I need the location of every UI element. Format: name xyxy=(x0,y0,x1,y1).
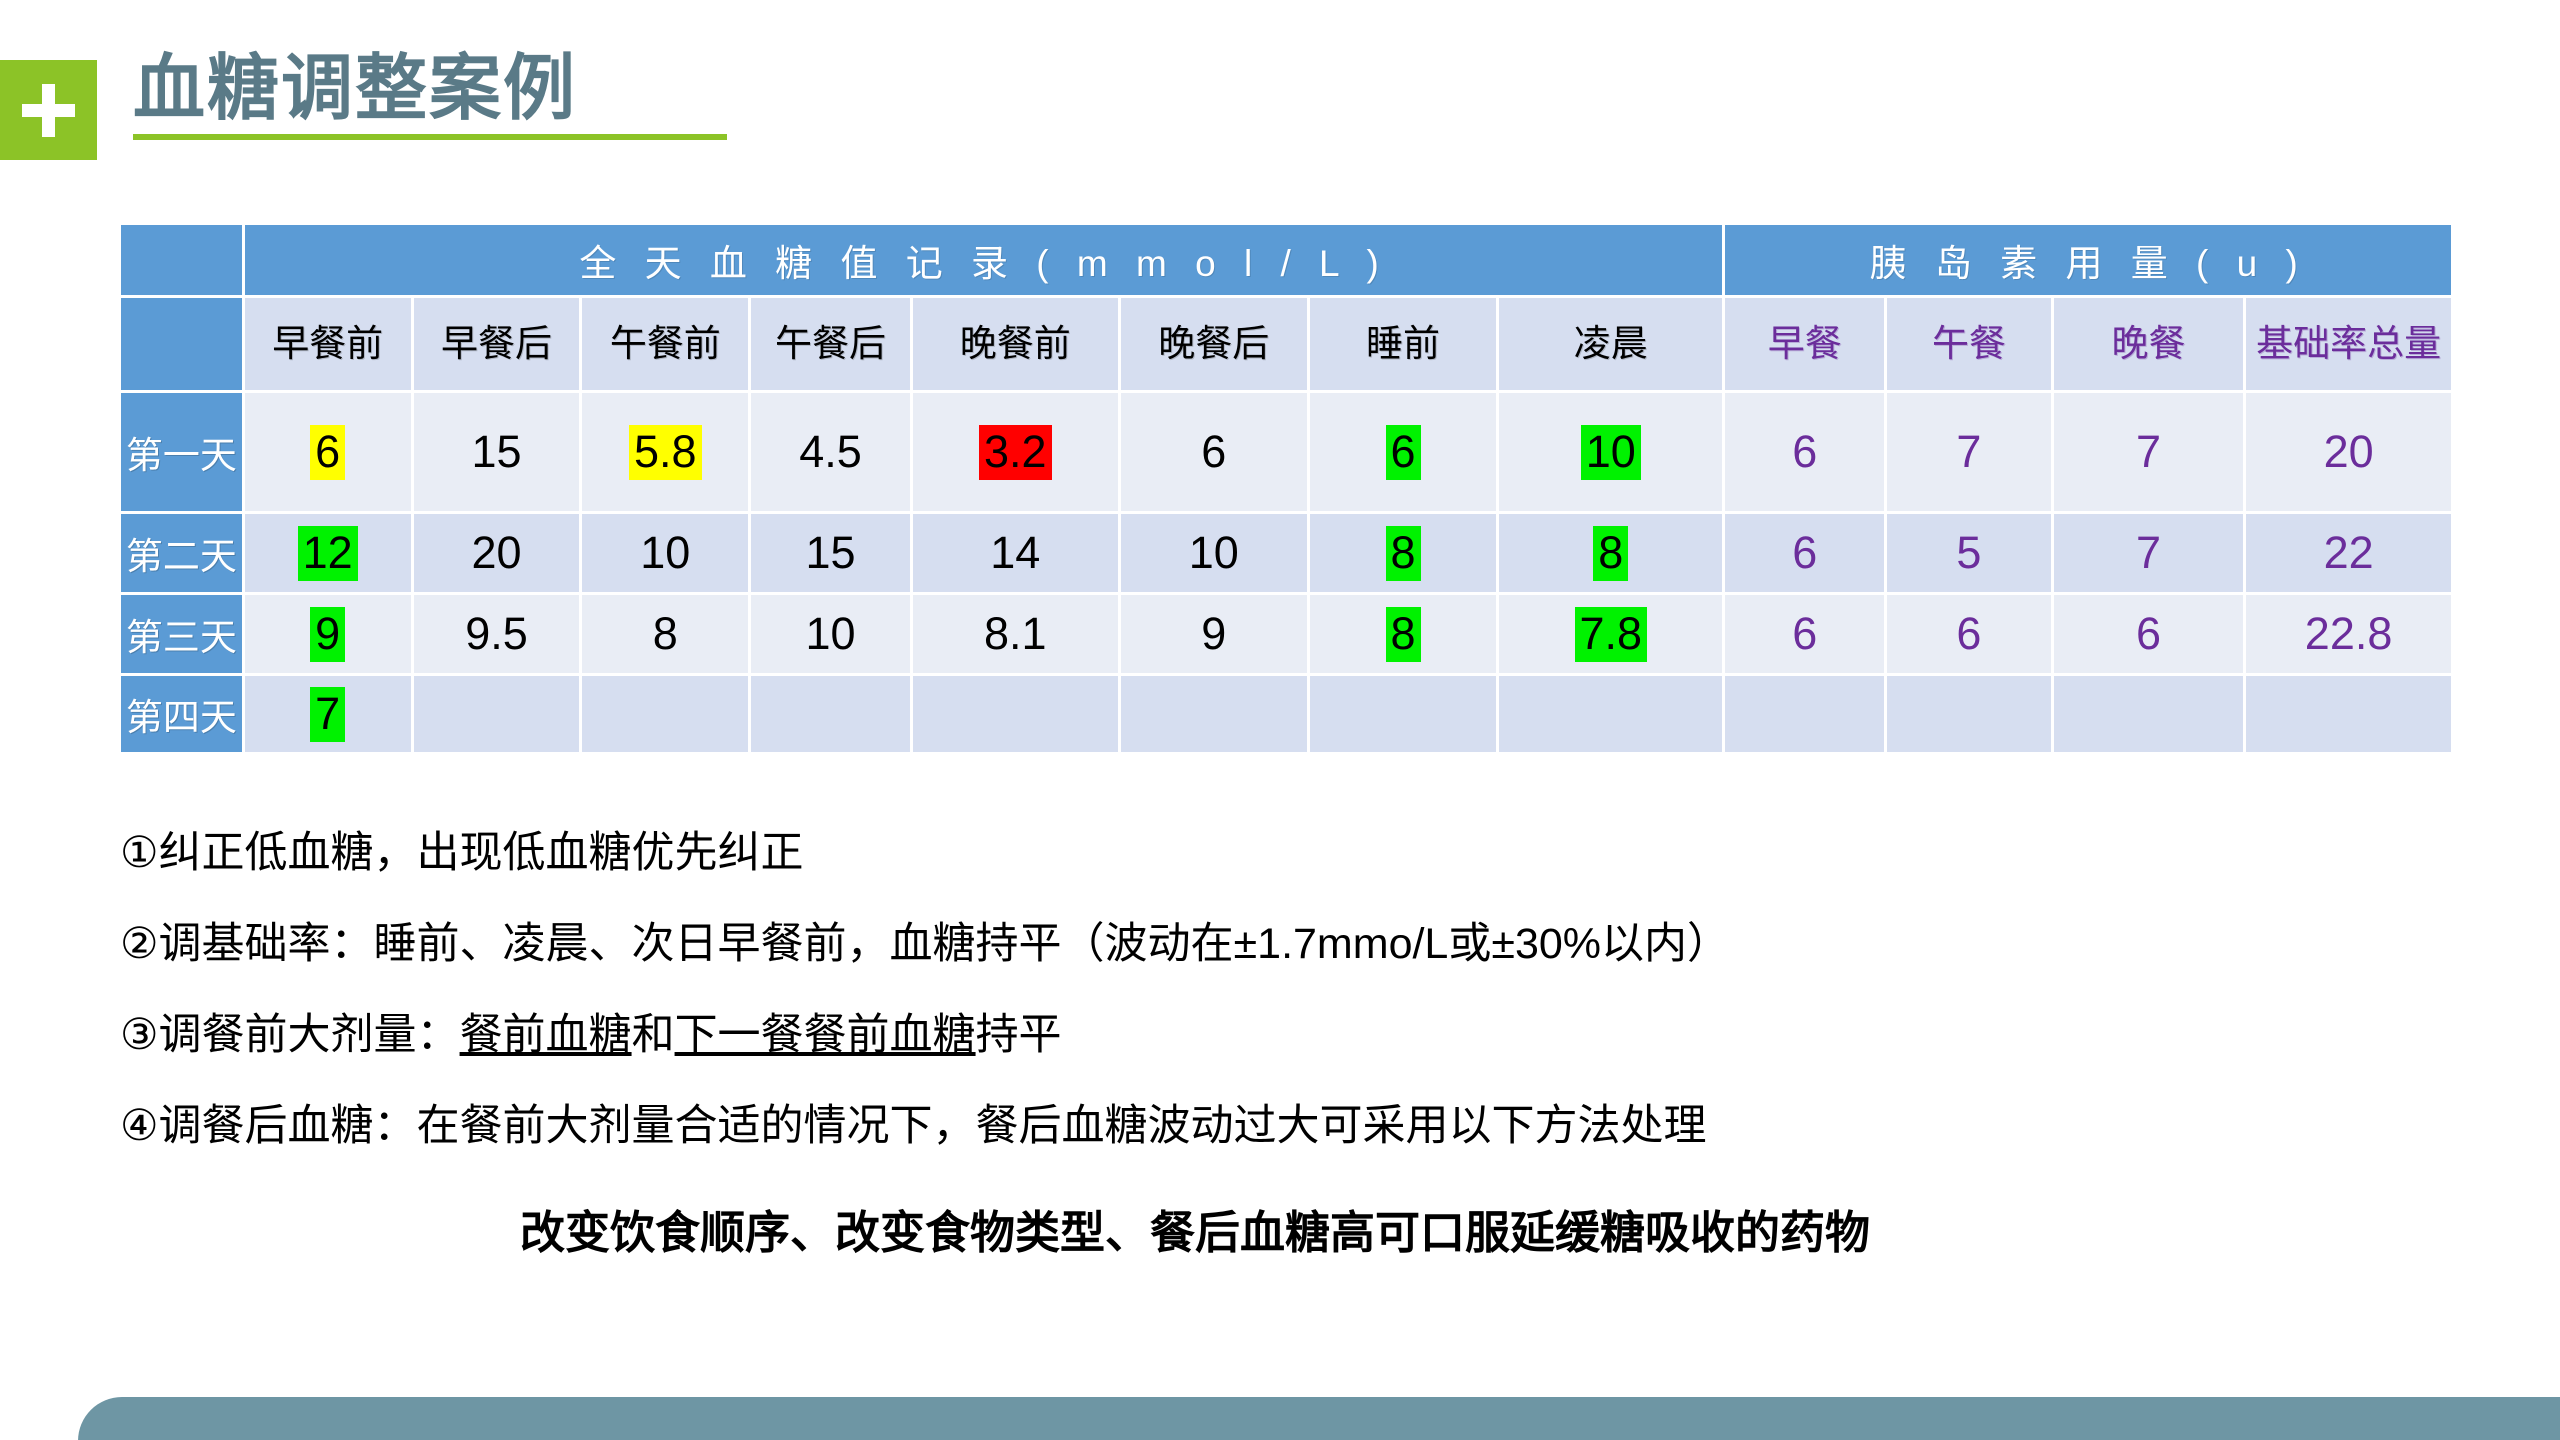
col-header-insulin-dinner: 晚餐 xyxy=(2054,298,2243,390)
table-row: 第三天99.58108.1987.866622.8 xyxy=(121,595,2451,673)
table-group-header-row: 全 天 血 糖 值 记 录 ( m m o l / L ) 胰 岛 素 用 量 … xyxy=(121,225,2451,295)
notes-block: ①纠正低血糖，出现低血糖优先纠正 ②调基础率：睡前、凌晨、次日早餐前，血糖持平（… xyxy=(120,832,2460,1261)
table-cell: 6 xyxy=(1725,393,1884,511)
note-line-3-prefix: ③调餐前大剂量： xyxy=(120,1011,460,1059)
note-line-3-underline-1: 餐前血糖 xyxy=(460,1011,632,1059)
table-cell: 6 xyxy=(1887,595,2051,673)
glucose-insulin-table: 全 天 血 糖 值 记 录 ( m m o l / L ) 胰 岛 素 用 量 … xyxy=(118,222,2454,755)
note-line-3-suffix: 持平 xyxy=(976,1011,1062,1059)
table-cell xyxy=(2054,676,2243,752)
table-cell: 10 xyxy=(1499,393,1722,511)
table-row: 第四天7 xyxy=(121,676,2451,752)
row-label-day2: 第二天 xyxy=(121,514,242,592)
table-body: 第一天6155.84.53.2661067720第二天1220101514108… xyxy=(121,393,2451,752)
table-cell: 6 xyxy=(2054,595,2243,673)
table-cell: 10 xyxy=(582,514,748,592)
table-cell: 5 xyxy=(1887,514,2051,592)
group-header-glucose: 全 天 血 糖 值 记 录 ( m m o l / L ) xyxy=(245,225,1723,295)
table-cell: 6 xyxy=(1121,393,1307,511)
table-cell: 20 xyxy=(414,514,580,592)
col-header-pre-dinner: 晚餐前 xyxy=(913,298,1118,390)
table-cell: 12 xyxy=(245,514,411,592)
table-cell: 3.2 xyxy=(913,393,1118,511)
plus-icon xyxy=(0,60,97,160)
table-cell xyxy=(1310,676,1496,752)
plus-icon-vertical-bar xyxy=(42,84,55,137)
table-cell: 14 xyxy=(913,514,1118,592)
table-column-header-row: 早餐前 早餐后 午餐前 午餐后 晚餐前 晚餐后 睡前 凌晨 早餐 午餐 晚餐 基… xyxy=(121,298,2451,390)
table-cell: 9 xyxy=(245,595,411,673)
table-cell: 6 xyxy=(1310,393,1496,511)
highlighted-value: 7 xyxy=(310,687,345,742)
note-line-4: ④调餐后血糖：在餐前大剂量合适的情况下，餐后血糖波动过大可采用以下方法处理 xyxy=(120,1105,2460,1148)
row-label-day3: 第三天 xyxy=(121,595,242,673)
table-corner-cell xyxy=(121,225,242,295)
highlighted-value: 7.8 xyxy=(1575,607,1648,662)
table-cell: 9.5 xyxy=(414,595,580,673)
table-row: 第二天1220101514108865722 xyxy=(121,514,2451,592)
note-line-1: ①纠正低血糖，出现低血糖优先纠正 xyxy=(120,832,2460,875)
col-header-pre-breakfast: 早餐前 xyxy=(245,298,411,390)
table-cell: 4.5 xyxy=(751,393,910,511)
table-cell xyxy=(1725,676,1884,752)
highlighted-value: 6 xyxy=(1386,425,1421,480)
table-cell: 8 xyxy=(1310,595,1496,673)
table-cell: 7 xyxy=(2054,393,2243,511)
table-cell: 22.8 xyxy=(2246,595,2451,673)
note-line-2: ②调基础率：睡前、凌晨、次日早餐前，血糖持平（波动在±1.7mmo/L或±30%… xyxy=(120,923,2460,966)
highlighted-value: 12 xyxy=(298,526,358,581)
note-line-3-mid: 和 xyxy=(632,1011,675,1059)
table-cell xyxy=(1887,676,2051,752)
table-cell xyxy=(751,676,910,752)
col-header-insulin-breakfast: 早餐 xyxy=(1725,298,1884,390)
table-cell: 9 xyxy=(1121,595,1307,673)
col-header-post-lunch: 午餐后 xyxy=(751,298,910,390)
note-summary: 改变饮食顺序、改变食物类型、餐后血糖高可口服延缓糖吸收的药物 xyxy=(520,1196,2460,1261)
table-cell: 22 xyxy=(2246,514,2451,592)
table-cell xyxy=(582,676,748,752)
table-row: 第一天6155.84.53.2661067720 xyxy=(121,393,2451,511)
table-cell xyxy=(1499,676,1722,752)
page-title: 血糖调整案例 xyxy=(133,52,727,128)
col-header-post-breakfast: 早餐后 xyxy=(414,298,580,390)
table-cell: 20 xyxy=(2246,393,2451,511)
highlighted-value: 9 xyxy=(310,607,345,662)
highlighted-value: 8 xyxy=(1386,607,1421,662)
slide-canvas: 血糖调整案例 全 天 血 糖 值 记 录 ( m m o l / L ) 胰 岛… xyxy=(0,0,2560,1440)
table-cell: 6 xyxy=(1725,595,1884,673)
table-cell: 10 xyxy=(1121,514,1307,592)
table-cell: 7 xyxy=(2054,514,2243,592)
table-cell: 7 xyxy=(245,676,411,752)
table-cell: 5.8 xyxy=(582,393,748,511)
highlighted-value: 10 xyxy=(1581,425,1641,480)
table-cell: 15 xyxy=(414,393,580,511)
col-header-dawn: 凌晨 xyxy=(1499,298,1722,390)
group-header-insulin: 胰 岛 素 用 量 ( u ) xyxy=(1725,225,2451,295)
table-cell xyxy=(414,676,580,752)
col-header-basal-total: 基础率总量 xyxy=(2246,298,2451,390)
highlighted-value: 8 xyxy=(1386,526,1421,581)
table-cell: 15 xyxy=(751,514,910,592)
table-cell: 7 xyxy=(1887,393,2051,511)
table-cell xyxy=(2246,676,2451,752)
table-cell: 6 xyxy=(245,393,411,511)
note-line-3: ③调餐前大剂量：餐前血糖和下一餐餐前血糖持平 xyxy=(120,1014,2460,1057)
title-underline xyxy=(133,134,727,140)
row-label-day1: 第一天 xyxy=(121,393,242,511)
col-header-pre-lunch: 午餐前 xyxy=(582,298,748,390)
table-cell: 6 xyxy=(1725,514,1884,592)
table-corner-cell-2 xyxy=(121,298,242,390)
row-label-day4: 第四天 xyxy=(121,676,242,752)
highlighted-value: 6 xyxy=(310,425,345,480)
col-header-insulin-lunch: 午餐 xyxy=(1887,298,2051,390)
table-cell: 8 xyxy=(582,595,748,673)
table-cell: 8 xyxy=(1310,514,1496,592)
table-cell: 7.8 xyxy=(1499,595,1722,673)
slide-title-block: 血糖调整案例 xyxy=(0,60,727,160)
highlighted-value: 3.2 xyxy=(979,425,1052,480)
table-cell xyxy=(1121,676,1307,752)
table-cell: 10 xyxy=(751,595,910,673)
highlighted-value: 8 xyxy=(1593,526,1628,581)
col-header-post-dinner: 晚餐后 xyxy=(1121,298,1307,390)
note-line-3-underline-2: 下一餐餐前血糖 xyxy=(675,1011,976,1059)
table-cell: 8 xyxy=(1499,514,1722,592)
footer-bar xyxy=(78,1397,2560,1440)
title-text-wrapper: 血糖调整案例 xyxy=(133,52,727,140)
col-header-bedtime: 睡前 xyxy=(1310,298,1496,390)
highlighted-value: 5.8 xyxy=(629,425,702,480)
table-cell: 8.1 xyxy=(913,595,1118,673)
table-cell xyxy=(913,676,1118,752)
